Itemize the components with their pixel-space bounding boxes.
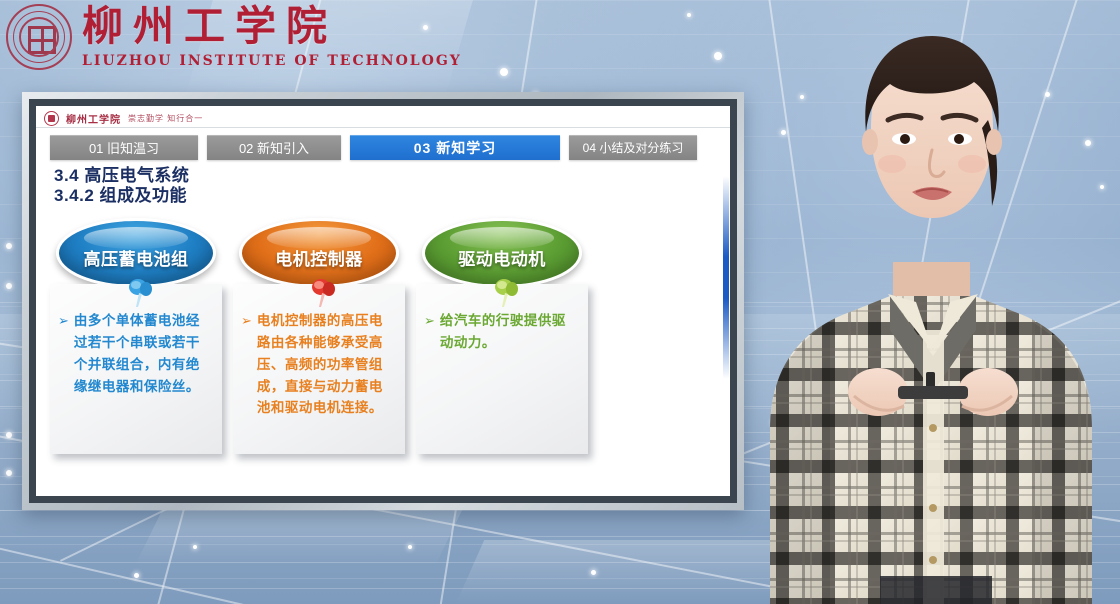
- university-seal-small-icon: [44, 111, 59, 126]
- brand-name-en: LIUZHOU INSTITUTE OF TECHNOLOGY: [82, 54, 462, 68]
- column-battery-pack: 高压蓄电池组 ➢ 由多个单体蓄电池经过若干个串联或若干个并联组合，内有绝缘继电器…: [50, 218, 222, 454]
- slide-topbar: 柳州工学院 崇志勤学 知行合一: [36, 106, 730, 128]
- university-seal-icon: [6, 4, 72, 70]
- slide-section-tabs: 01 旧知温习 02 新知引入 03 新知学习 04 小结及对分练习: [36, 128, 730, 160]
- blue-pushpin-icon: [126, 276, 156, 310]
- bullet-icon: ➢: [424, 310, 435, 354]
- slide-bezel: 柳州工学院 崇志勤学 知行合一 01 旧知温习 02 新知引入 03 新知学习 …: [29, 99, 737, 503]
- slide-frame: 柳州工学院 崇志勤学 知行合一 01 旧知温习 02 新知引入 03 新知学习 …: [22, 92, 744, 510]
- tab-03-new-learning[interactable]: 03 新知学习: [350, 135, 560, 160]
- slide-brand-name: 柳州工学院: [66, 111, 121, 126]
- oval-label: 电机控制器: [275, 245, 363, 270]
- bullet-icon: ➢: [58, 310, 69, 397]
- brand-text: 柳州工学院 LIUZHOU INSTITUTE OF TECHNOLOGY: [82, 6, 462, 68]
- slide-content: 柳州工学院 崇志勤学 知行合一 01 旧知温习 02 新知引入 03 新知学习 …: [36, 106, 730, 496]
- card-text: 给汽车的行驶提供驱动动力。: [440, 310, 578, 354]
- brand-header: 柳州工学院 LIUZHOU INSTITUTE OF TECHNOLOGY: [6, 4, 462, 70]
- oval-label: 高压蓄电池组: [84, 245, 189, 270]
- screen: 柳州工学院 LIUZHOU INSTITUTE OF TECHNOLOGY 柳州…: [0, 0, 1120, 604]
- column-drive-motor: 驱动电动机 ➢ 给汽车的行驶提供驱动动力。: [416, 218, 588, 454]
- red-pushpin-icon: [309, 276, 339, 310]
- slide-brand-motto: 崇志勤学 知行合一: [128, 113, 203, 124]
- oval-label: 驱动电动机: [458, 245, 546, 270]
- presenter-video: [730, 0, 1120, 604]
- heading-subsection: 3.4.2 组成及功能: [54, 186, 730, 206]
- column-motor-controller: 电机控制器 ➢ 电机控制器的高压电路由各种能够承受高压、高频的功率管组成，直接与…: [233, 218, 405, 454]
- card-text: 由多个单体蓄电池经过若干个串联或若干个并联组合，内有绝缘继电器和保险丝。: [74, 310, 212, 397]
- green-pushpin-icon: [492, 276, 522, 310]
- presenter-head: [862, 36, 1002, 218]
- background-light-panel-1: [135, 505, 464, 565]
- presenter-figure: [730, 0, 1120, 604]
- brand-name-cn: 柳州工学院: [82, 6, 462, 47]
- content-columns: 高压蓄电池组 ➢ 由多个单体蓄电池经过若干个串联或若干个并联组合，内有绝缘继电器…: [50, 218, 716, 454]
- card-text: 电机控制器的高压电路由各种能够承受高压、高频的功率管组成，直接与动力蓄电池和驱动…: [257, 310, 395, 419]
- tab-01-review[interactable]: 01 旧知温习: [50, 135, 198, 160]
- tab-04-summary-practice[interactable]: 04 小结及对分练习: [569, 135, 697, 160]
- slide-headings: 3.4 高压电气系统 3.4.2 组成及功能: [36, 160, 730, 206]
- heading-section: 3.4 高压电气系统: [54, 166, 730, 186]
- bullet-icon: ➢: [241, 310, 252, 419]
- tab-02-introduction[interactable]: 02 新知引入: [207, 135, 341, 160]
